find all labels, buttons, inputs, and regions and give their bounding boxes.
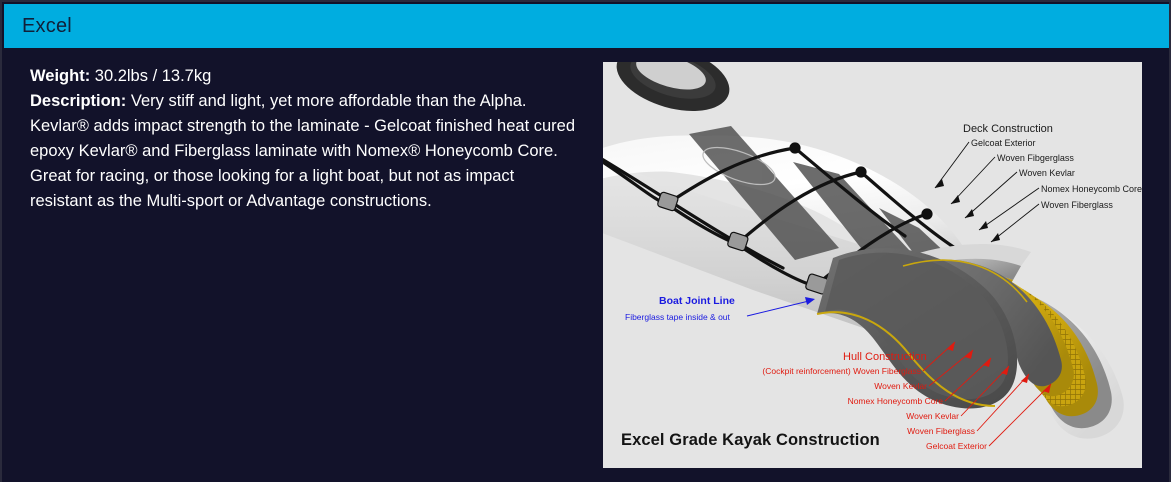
description-line: Description: Very stiff and light, yet m… <box>30 89 578 214</box>
panel-header: Excel <box>4 4 1171 48</box>
joint-heading: Boat Joint Line <box>659 295 735 307</box>
kayak-cutaway-illustration: Deck Construction Gelcoat Exterior Woven… <box>603 62 1142 468</box>
weight-line: Weight: 30.2lbs / 13.7kg <box>30 64 578 89</box>
deck-label-3: Nomex Honeycomb Core <box>1041 184 1142 194</box>
hull-label-2: Nomex Honeycomb Core <box>848 396 944 406</box>
deck-label-1: Woven Fibgerglass <box>997 153 1074 163</box>
hull-label-4: Woven Fiberglass <box>907 426 975 436</box>
joint-sub: Fiberglass tape inside & out <box>625 312 731 322</box>
figure-caption: Excel Grade Kayak Construction <box>621 431 880 450</box>
weight-value: 30.2lbs / 13.7kg <box>95 67 212 85</box>
weight-label: Weight: <box>30 67 90 85</box>
page-title: Excel <box>22 15 72 38</box>
hull-heading: Hull Construction <box>843 351 927 363</box>
illustration-body: Deck Construction Gelcoat Exterior Woven… <box>603 62 1142 468</box>
deck-label-4: Woven Fiberglass <box>1041 200 1113 210</box>
hull-label-3: Woven Kevlar <box>906 411 959 421</box>
deck-heading: Deck Construction <box>963 123 1053 135</box>
hull-label-1: Woven Kevlar <box>874 381 927 391</box>
construction-diagram: Deck Construction Gelcoat Exterior Woven… <box>603 62 1142 468</box>
deck-label-2: Woven Kevlar <box>1019 168 1075 178</box>
description-label: Description: <box>30 92 126 110</box>
deck-label-0: Gelcoat Exterior <box>971 138 1036 148</box>
hull-label-5: Gelcoat Exterior <box>926 441 987 451</box>
product-detail-panel: Excel Weight: 30.2lbs / 13.7kg Descripti… <box>0 0 1171 482</box>
product-info-block: Weight: 30.2lbs / 13.7kg Description: Ve… <box>30 64 578 214</box>
hull-label-0: (Cockpit reinforcement) Woven Fiberglass <box>762 366 921 376</box>
